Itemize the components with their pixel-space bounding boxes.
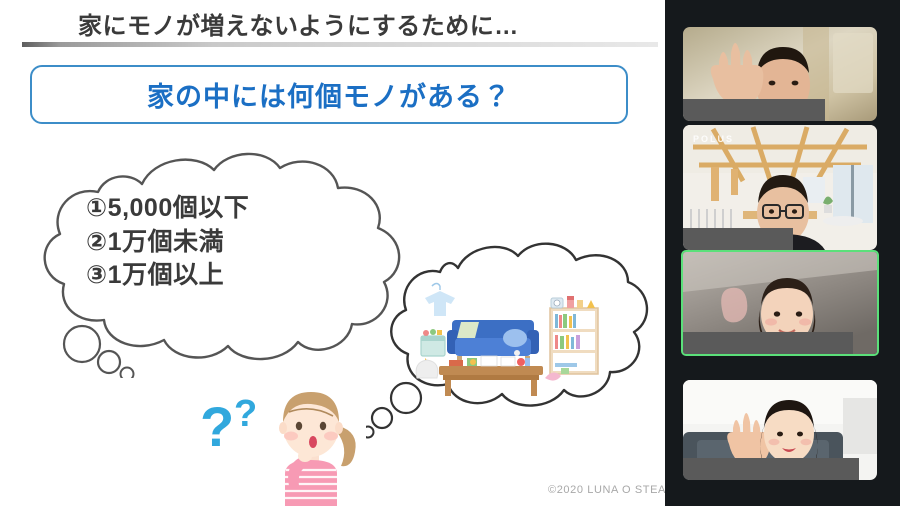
question-box: 家の中には何個モノがある？ bbox=[30, 65, 628, 124]
video-tile-participant-4[interactable] bbox=[683, 380, 877, 480]
coffee-table-icon bbox=[439, 356, 543, 396]
toy-box-icon bbox=[421, 329, 445, 364]
screen: 家にモノが増えないようにするために… 家の中には何個モノがある？ ①5,000個… bbox=[0, 0, 900, 506]
answer-option-3: ③1万個以上 bbox=[86, 259, 249, 293]
svg-text:?: ? bbox=[200, 395, 234, 458]
presentation-slide: 家にモノが増えないようにするために… 家の中には何個モノがある？ ①5,000個… bbox=[0, 0, 665, 506]
video-tile-participant-2[interactable]: POLUS bbox=[683, 125, 877, 250]
bean-bag-icon bbox=[416, 360, 438, 378]
participant-name-redaction bbox=[683, 99, 825, 121]
page-title: 家にモノが増えないようにするために… bbox=[78, 6, 519, 41]
polus-watermark: POLUS bbox=[693, 134, 734, 144]
bookshelf-icon bbox=[550, 296, 598, 374]
answer-option-2: ②1万個未満 bbox=[86, 226, 249, 260]
video-tile-participant-1[interactable] bbox=[683, 27, 877, 121]
cluttered-room-illustration bbox=[405, 278, 615, 403]
video-tile-participant-3[interactable] bbox=[683, 252, 877, 354]
answer-option-1: ①5,000個以下 bbox=[86, 192, 249, 226]
question-text: 家の中には何個モノがある？ bbox=[147, 75, 511, 114]
thinking-woman-illustration bbox=[255, 382, 365, 506]
participant-name-redaction bbox=[683, 228, 793, 250]
participant-name-redaction bbox=[683, 332, 853, 354]
copyright-text: ©2020 LUNA O STEA bbox=[548, 484, 665, 496]
hanging-shirt-icon bbox=[425, 284, 455, 317]
svg-text:?: ? bbox=[234, 393, 257, 435]
participant-name-redaction bbox=[683, 458, 859, 480]
video-conference-panel: POLUS bbox=[665, 0, 900, 506]
answer-options: ①5,000個以下 ②1万個未満 ③1万個以上 bbox=[86, 192, 249, 293]
title-divider bbox=[22, 42, 658, 47]
